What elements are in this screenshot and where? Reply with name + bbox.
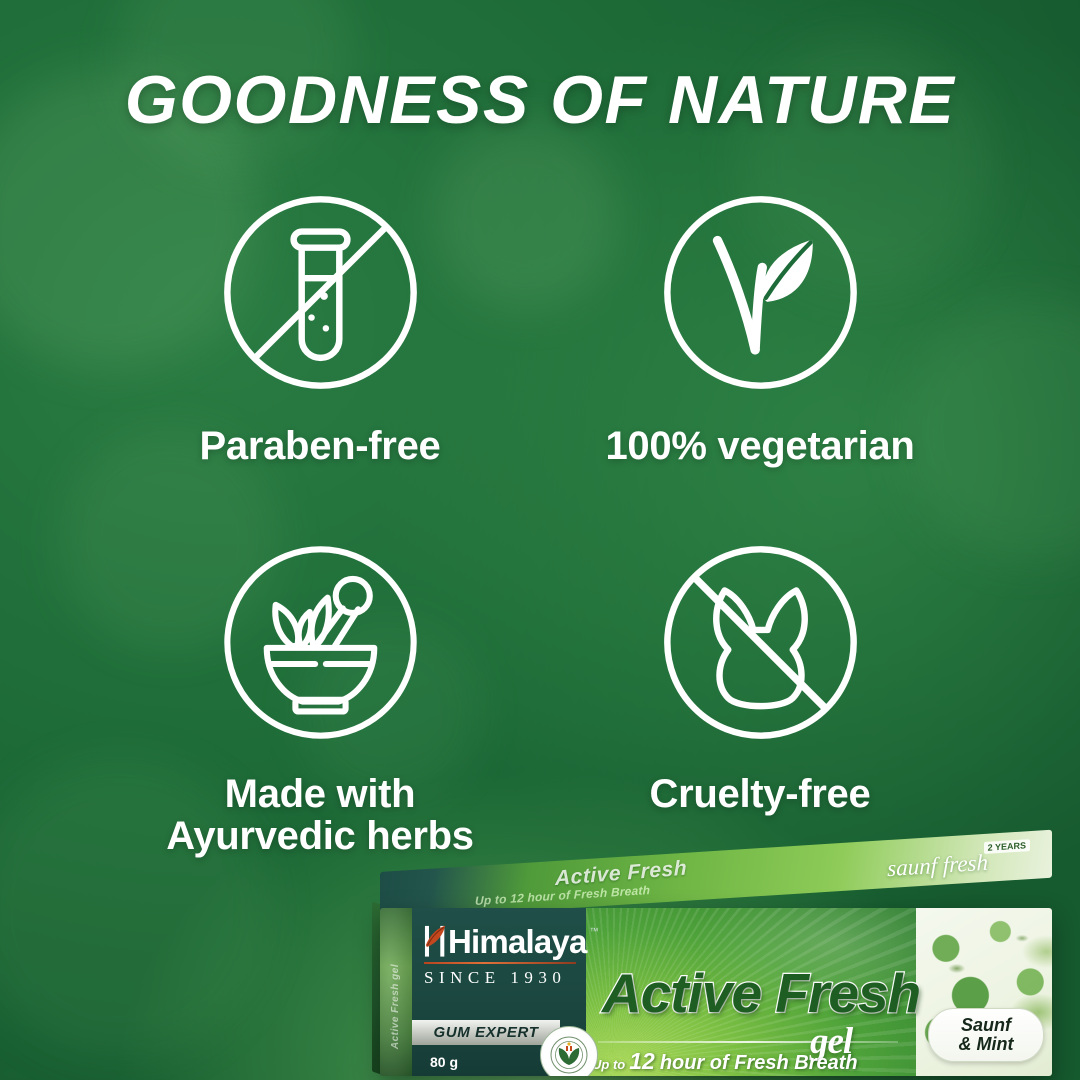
front-claim: Up to 12 hour of Fresh Breath <box>592 1048 858 1075</box>
promo-graphic: GOODNESS OF NATURE Paraben-free <box>0 0 1080 1080</box>
feature-item-ayurvedic: Made with Ayurvedic herbs <box>100 535 540 865</box>
segment-band: GUM EXPERT <box>412 1020 560 1045</box>
package-front-panel: Active Fresh gel Himalaya ™ <box>380 908 1052 1076</box>
himalaya-leaf-icon <box>424 924 447 958</box>
package-side-text: Active Fresh gel <box>382 944 410 1069</box>
brand-since: SINCE 1930 <box>424 968 566 988</box>
front-divider <box>598 1041 898 1043</box>
vegetarian-leaf-icon <box>653 185 868 400</box>
brand-logo: Himalaya ™ <box>424 924 599 958</box>
feature-label: 100% vegetarian <box>605 426 914 468</box>
flavor-line-1: Saunf <box>961 1016 1011 1035</box>
top-panel-variant: saunf fresh <box>887 850 988 882</box>
net-weight: 80 g <box>430 1054 458 1070</box>
research-seal-icon <box>540 1026 598 1076</box>
product-name: Active Fresh <box>602 966 920 1021</box>
no-rabbit-icon <box>653 535 868 750</box>
feature-label: Made with Ayurvedic herbs <box>166 774 473 857</box>
top-panel-badge: 2 YEARS <box>984 839 1030 854</box>
feature-item-vegetarian: 100% vegetarian <box>540 185 980 535</box>
flavor-line-2: & Mint <box>959 1035 1014 1054</box>
claim-rest: hour of Fresh Breath <box>660 1052 858 1075</box>
no-test-tube-icon <box>213 185 428 400</box>
brand-name: Himalaya <box>448 925 587 958</box>
feature-item-cruelty-free: Cruelty-free <box>540 535 980 865</box>
brand-underline <box>424 962 576 964</box>
side-panel-label: Active Fresh gel <box>391 964 402 1049</box>
trademark-symbol: ™ <box>590 926 599 936</box>
mortar-pestle-icon <box>213 535 428 750</box>
claim-number: 12 <box>629 1048 655 1075</box>
page-title: GOODNESS OF NATURE <box>0 66 1080 134</box>
feature-item-paraben-free: Paraben-free <box>100 185 540 535</box>
feature-label: Cruelty-free <box>650 774 871 816</box>
flavor-badge: Saunf & Mint <box>928 1008 1044 1062</box>
product-package: Active Fresh Up to 12 hour of Fresh Brea… <box>372 872 1080 1080</box>
feature-grid: Paraben-free 100% vegetarian <box>100 185 980 865</box>
feature-label: Paraben-free <box>200 426 441 468</box>
